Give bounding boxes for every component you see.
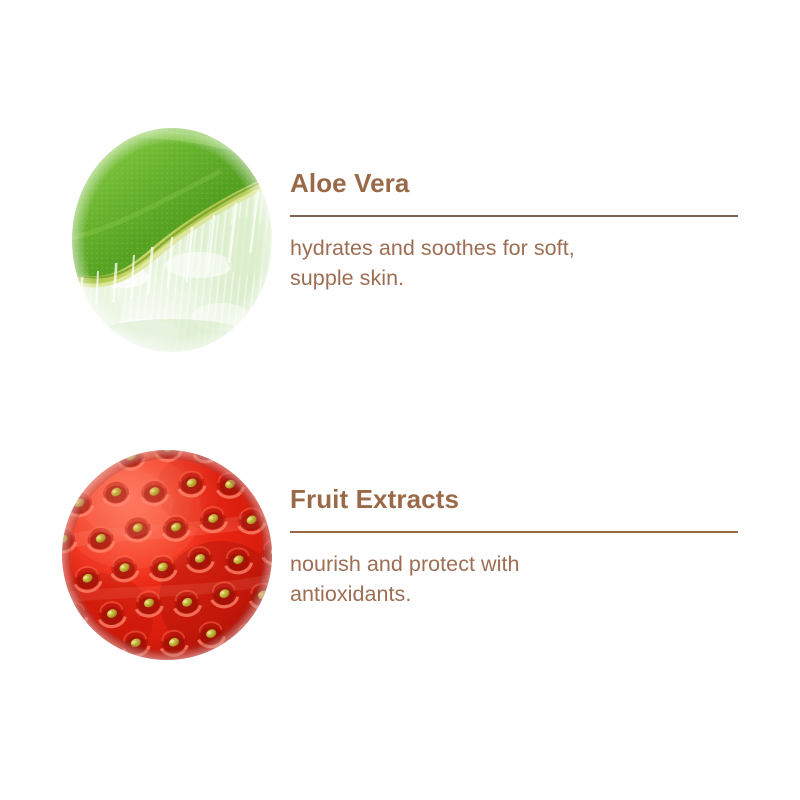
fruit-extracts-copy: Fruit Extracts nourish and protect with … xyxy=(290,484,740,609)
ingredient-description-fruit-extracts: nourish and protect with antioxidants. xyxy=(290,533,730,609)
description-line: antioxidants. xyxy=(290,579,730,609)
ingredient-description-aloe-vera: hydrates and soothes for soft, supple sk… xyxy=(290,217,730,293)
strawberry-photo xyxy=(61,449,273,661)
ingredient-row-fruit-extracts: Fruit Extracts nourish and protect with … xyxy=(0,440,800,680)
ingredients-panel: Aloe Vera hydrates and soothes for soft,… xyxy=(0,0,800,800)
ingredient-row-aloe-vera: Aloe Vera hydrates and soothes for soft,… xyxy=(0,118,800,368)
ingredient-title-fruit-extracts: Fruit Extracts xyxy=(290,484,740,514)
description-line: nourish and protect with xyxy=(290,549,730,579)
description-line: supple skin. xyxy=(290,263,730,293)
aloe-vera-photo xyxy=(71,127,273,353)
description-line: hydrates and soothes for soft, xyxy=(290,233,730,263)
aloe-vera-copy: Aloe Vera hydrates and soothes for soft,… xyxy=(290,168,740,293)
ingredient-title-aloe-vera: Aloe Vera xyxy=(290,168,740,198)
